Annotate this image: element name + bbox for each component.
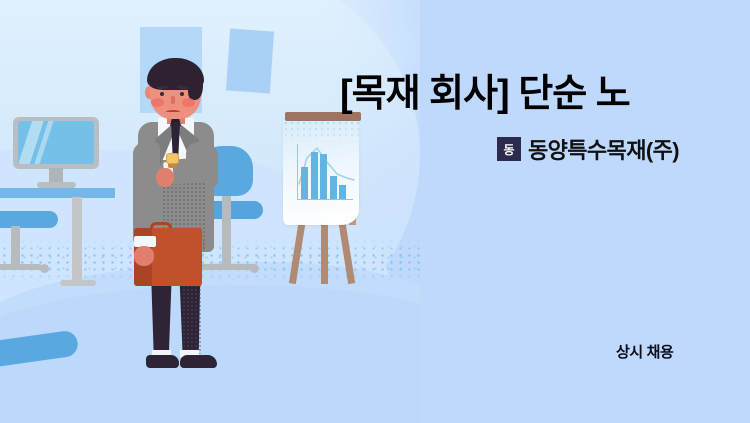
company-name: 동양특수목재(주) xyxy=(528,133,679,165)
businessman-figure xyxy=(118,50,258,370)
desk-leg-icon xyxy=(72,197,82,283)
hair-side-icon xyxy=(188,72,203,100)
mouth-icon xyxy=(166,110,180,114)
right-hand-icon xyxy=(156,168,174,187)
flipchart-paper xyxy=(283,120,359,225)
blush-icon xyxy=(151,98,164,107)
easel-top-bar-icon xyxy=(285,112,361,121)
chart-bar xyxy=(301,167,308,199)
chart-bars xyxy=(301,144,353,199)
chair-left-base-icon xyxy=(0,264,42,270)
company-row: 동 동양특수목재(주) xyxy=(497,133,679,165)
desk-foot-icon xyxy=(60,280,96,286)
nose-icon xyxy=(171,96,175,104)
chair-left-stem-icon xyxy=(11,226,20,268)
easel-leg-icon xyxy=(321,218,328,284)
company-logo-badge: 동 xyxy=(497,137,521,161)
monitor-screen-icon xyxy=(18,121,94,164)
shoe-icon xyxy=(180,355,217,368)
left-hand-icon xyxy=(134,246,154,266)
illustration-panel xyxy=(0,0,420,423)
blush-icon xyxy=(182,98,195,107)
job-poster-card: [목재 회사] 단순 노 동 동양특수목재(주) 상시 채용 xyxy=(0,0,750,423)
chart-bar xyxy=(339,185,346,199)
desk-surface-icon xyxy=(0,188,115,198)
status-badge: 상시 채용 xyxy=(616,341,673,362)
chart-bar xyxy=(330,176,337,199)
paper-speckle-icon xyxy=(283,120,359,146)
chart-bar xyxy=(320,154,327,199)
chart-bar xyxy=(311,152,318,199)
chair-left-seat-icon xyxy=(0,211,58,228)
eye-icon xyxy=(180,92,184,96)
chair-left-wheel-icon xyxy=(40,264,49,273)
wristwatch-icon xyxy=(166,153,179,164)
shoe-icon xyxy=(146,355,179,368)
eye-icon xyxy=(160,92,164,96)
